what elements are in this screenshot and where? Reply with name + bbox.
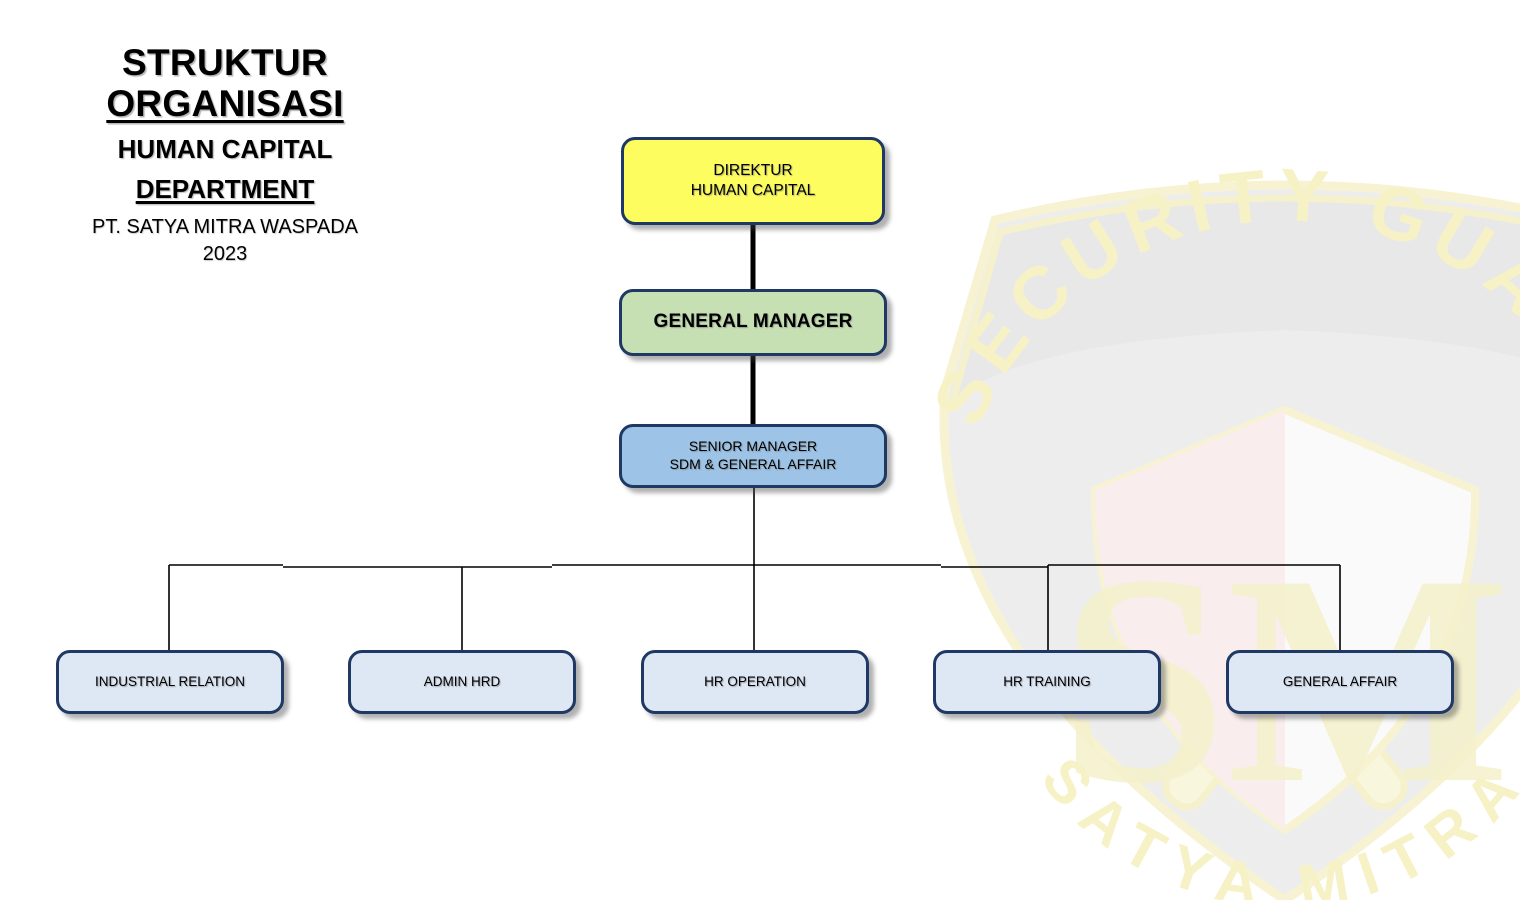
node-general-affair-label: GENERAL AFFAIR (1277, 673, 1403, 690)
badge-bottom-arc-text: SATYA MITRA (1029, 745, 1520, 900)
node-direktur-line2: HUMAN CAPITAL (691, 182, 816, 199)
title-line-organisasi: ORGANISASI (60, 83, 390, 124)
node-hr-operation-label: HR OPERATION (698, 673, 812, 690)
title-line-department: DEPARTMENT (60, 173, 390, 206)
node-industrial-relation-label: INDUSTRIAL RELATION (89, 673, 251, 690)
node-direktur-line1: DIREKTUR (713, 162, 792, 179)
node-hr-training-label: HR TRAINING (997, 673, 1097, 690)
badge-body (944, 185, 1520, 900)
node-admin-hrd-label: ADMIN HRD (418, 673, 507, 690)
shield-icon (1095, 410, 1475, 830)
company-badge-watermark: SM SECURITY GUARD SATYA MITRA (905, 140, 1520, 900)
title-line-human-capital: HUMAN CAPITAL (60, 133, 390, 166)
slide-title-block: STRUKTUR ORGANISASI HUMAN CAPITAL DEPART… (60, 42, 390, 268)
node-senior-manager-line1: SENIOR MANAGER (689, 438, 817, 454)
node-direktur-label: DIREKTUR HUMAN CAPITAL (685, 161, 822, 201)
node-hr-training[interactable]: HR TRAINING (933, 650, 1161, 714)
node-senior-manager-label: SENIOR MANAGER SDM & GENERAL AFFAIR (664, 438, 843, 474)
organization-chart-slide: SM SECURITY GUARD SATYA MITRA STRUKTUR O… (0, 0, 1520, 900)
year-label: 2023 (60, 241, 390, 268)
node-general-manager[interactable]: GENERAL MANAGER (619, 289, 887, 356)
title-line-struktur: STRUKTUR (60, 42, 390, 83)
crossed-batons-icon (1131, 472, 1440, 817)
node-general-manager-label: GENERAL MANAGER (648, 310, 859, 334)
node-hr-operation[interactable]: HR OPERATION (641, 650, 869, 714)
node-general-affair[interactable]: GENERAL AFFAIR (1226, 650, 1454, 714)
node-senior-manager-line2: SDM & GENERAL AFFAIR (670, 456, 837, 472)
badge-top-banner (953, 198, 1520, 400)
badge-top-arc-text: SECURITY GUARD (916, 153, 1520, 438)
node-industrial-relation[interactable]: INDUSTRIAL RELATION (56, 650, 284, 714)
node-direktur-human-capital[interactable]: DIREKTUR HUMAN CAPITAL (621, 137, 885, 225)
node-admin-hrd[interactable]: ADMIN HRD (348, 650, 576, 714)
company-name: PT. SATYA MITRA WASPADA (60, 214, 390, 241)
node-senior-manager[interactable]: SENIOR MANAGER SDM & GENERAL AFFAIR (619, 424, 887, 488)
